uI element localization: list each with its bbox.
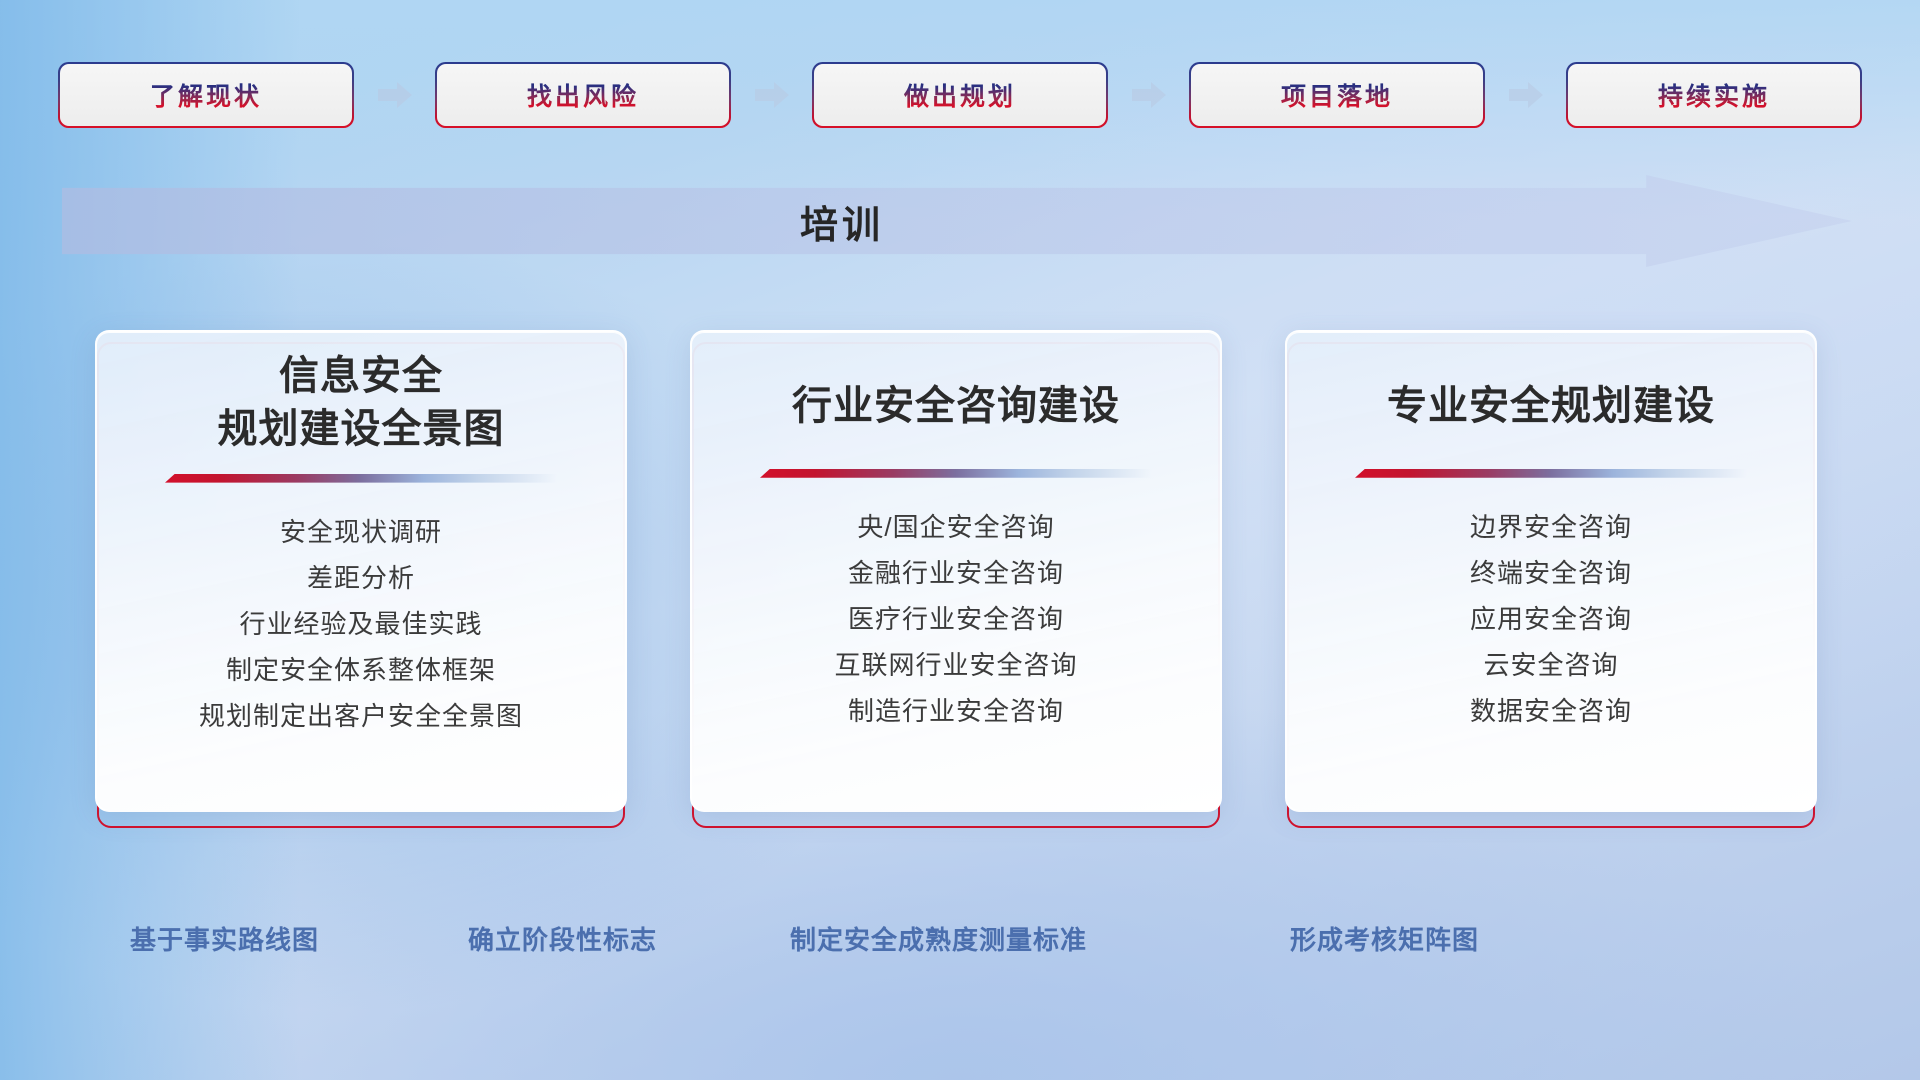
- card-face: 信息安全 规划建设全景图 安全现状调研 差距分析 行业经验及最佳实践 制定安全体…: [95, 330, 627, 812]
- list-item: 互联网行业安全咨询: [692, 642, 1220, 688]
- process-step-label: 找出风险: [527, 77, 639, 113]
- arrow-right-icon: [378, 80, 412, 110]
- process-step-2[interactable]: 找出风险: [437, 64, 729, 126]
- list-item: 医疗行业安全咨询: [692, 596, 1220, 642]
- list-item: 规划制定出客户安全全景图: [97, 693, 625, 739]
- list-item: 数据安全咨询: [1287, 688, 1815, 734]
- process-step-3[interactable]: 做出规划: [814, 64, 1106, 126]
- card-face: 专业安全规划建设 边界安全咨询 终端安全咨询 应用安全咨询 云安全咨询 数据安全…: [1285, 330, 1817, 812]
- list-item: 云安全咨询: [1287, 642, 1815, 688]
- card-title: 行业安全咨询建设: [692, 380, 1220, 433]
- list-item: 差距分析: [97, 555, 625, 601]
- process-step-label: 了解现状: [150, 77, 262, 113]
- card-title-line: 信息安全: [97, 350, 625, 403]
- footnote-label: 形成考核矩阵图: [1290, 920, 1479, 957]
- list-item: 制定安全体系整体框架: [97, 647, 625, 693]
- list-item: 安全现状调研: [97, 509, 625, 555]
- footnote-label: 确立阶段性标志: [468, 920, 657, 957]
- list-item: 行业经验及最佳实践: [97, 601, 625, 647]
- card-face: 行业安全咨询建设 央/国企安全咨询 金融行业安全咨询 医疗行业安全咨询 互联网行…: [690, 330, 1222, 812]
- arrow-right-icon: [1509, 80, 1543, 110]
- capability-card-3[interactable]: 专业安全规划建设 边界安全咨询 终端安全咨询 应用安全咨询 云安全咨询 数据安全…: [1285, 330, 1825, 830]
- footnote-row: 基于事实路线图 确立阶段性标志 制定安全成熟度测量标准 形成考核矩阵图: [0, 920, 1920, 970]
- process-step-row: 了解现状 找出风险 做出规划 项目落地: [60, 64, 1860, 126]
- card-divider: [165, 474, 557, 483]
- process-step-1[interactable]: 了解现状: [60, 64, 352, 126]
- banner-label: 培训: [0, 175, 1737, 267]
- card-item-list: 央/国企安全咨询 金融行业安全咨询 医疗行业安全咨询 互联网行业安全咨询 制造行…: [692, 504, 1220, 734]
- list-item: 金融行业安全咨询: [692, 550, 1220, 596]
- footnote-label: 制定安全成熟度测量标准: [790, 920, 1087, 957]
- list-item: 央/国企安全咨询: [692, 504, 1220, 550]
- card-divider: [760, 469, 1152, 478]
- slide-canvas: 了解现状 找出风险 做出规划 项目落地: [0, 0, 1920, 1080]
- footnote-label: 基于事实路线图: [130, 920, 319, 957]
- card-title: 信息安全 规划建设全景图: [97, 350, 625, 456]
- list-item: 应用安全咨询: [1287, 596, 1815, 642]
- capability-card-1[interactable]: 信息安全 规划建设全景图 安全现状调研 差距分析 行业经验及最佳实践 制定安全体…: [95, 330, 635, 830]
- arrow-right-icon: [755, 80, 789, 110]
- list-item: 制造行业安全咨询: [692, 688, 1220, 734]
- process-step-label: 项目落地: [1281, 77, 1393, 113]
- list-item: 终端安全咨询: [1287, 550, 1815, 596]
- process-step-4[interactable]: 项目落地: [1191, 64, 1483, 126]
- card-title-line: 规划建设全景图: [97, 403, 625, 456]
- process-step-label: 做出规划: [904, 77, 1016, 113]
- capability-card-2[interactable]: 行业安全咨询建设 央/国企安全咨询 金融行业安全咨询 医疗行业安全咨询 互联网行…: [690, 330, 1230, 830]
- capability-card-row: 信息安全 规划建设全景图 安全现状调研 差距分析 行业经验及最佳实践 制定安全体…: [95, 330, 1825, 830]
- card-title-line: 行业安全咨询建设: [692, 380, 1220, 433]
- arrow-right-icon: [1132, 80, 1166, 110]
- card-item-list: 边界安全咨询 终端安全咨询 应用安全咨询 云安全咨询 数据安全咨询: [1287, 504, 1815, 734]
- card-title: 专业安全规划建设: [1287, 380, 1815, 433]
- process-step-label: 持续实施: [1658, 77, 1770, 113]
- training-banner: 培训: [62, 175, 1852, 267]
- list-item: 边界安全咨询: [1287, 504, 1815, 550]
- card-divider: [1355, 469, 1747, 478]
- card-item-list: 安全现状调研 差距分析 行业经验及最佳实践 制定安全体系整体框架 规划制定出客户…: [97, 509, 625, 739]
- card-title-line: 专业安全规划建设: [1287, 380, 1815, 433]
- process-step-5[interactable]: 持续实施: [1568, 64, 1860, 126]
